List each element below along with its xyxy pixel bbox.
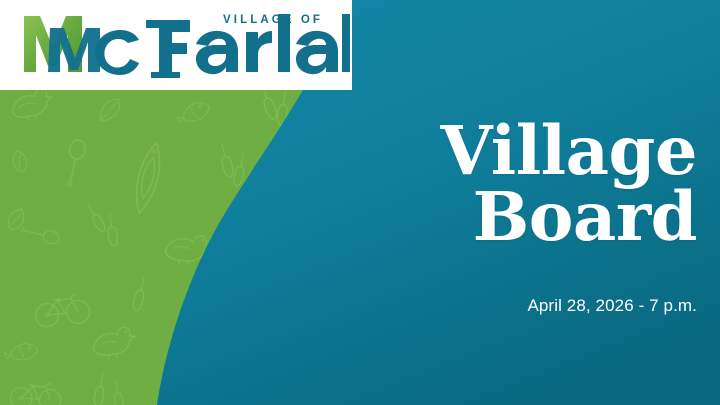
meeting-datetime: April 28, 2026 - 7 p.m. — [237, 297, 697, 316]
slide-content: Village Board April 28, 2026 - 7 p.m. — [237, 118, 697, 316]
slide-canvas: VILLAGE OF Village Board April 28, 2026 … — [0, 0, 720, 405]
logo-eyebrow-text: VILLAGE OF — [223, 15, 323, 27]
page-title: Village Board — [237, 118, 697, 249]
village-logo[interactable]: VILLAGE OF — [20, 8, 350, 80]
title-divider — [655, 271, 697, 275]
page-title-line-1: Village — [237, 118, 697, 184]
page-title-line-2: Board — [237, 184, 697, 250]
